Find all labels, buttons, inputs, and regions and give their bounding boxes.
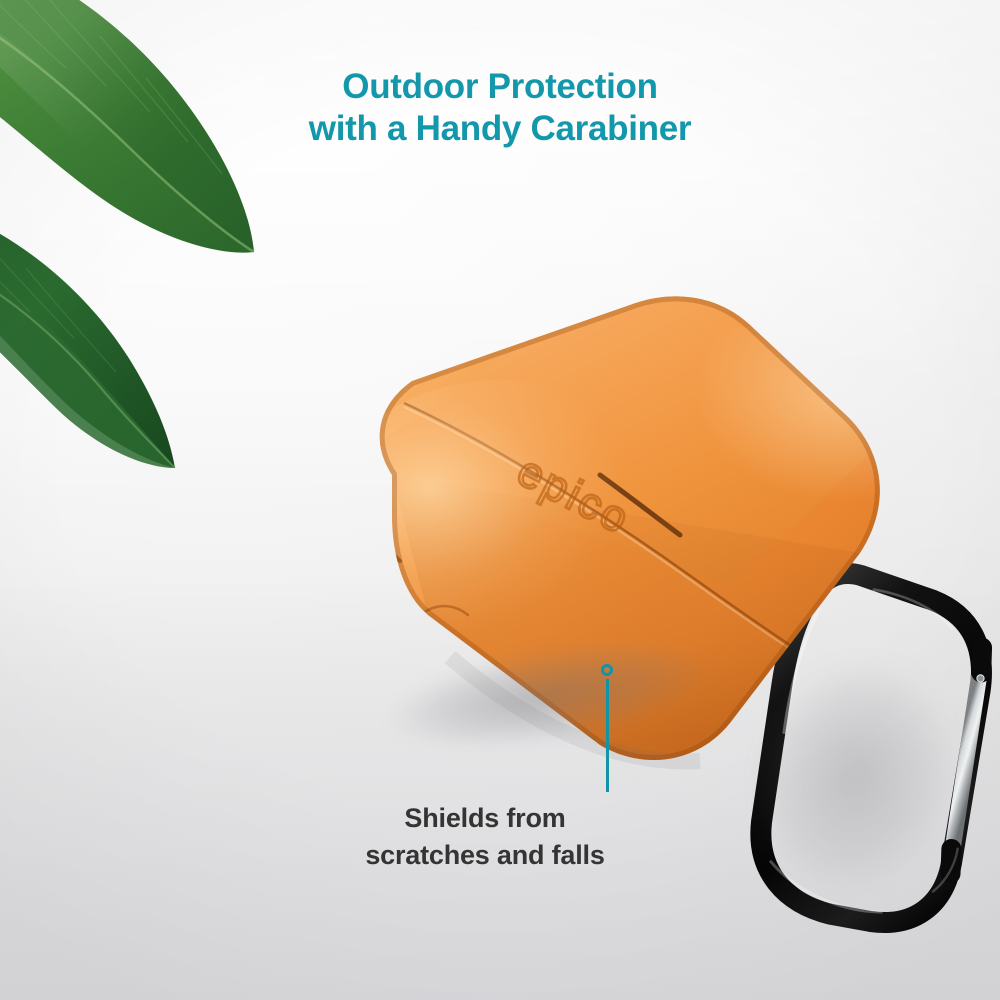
caption-line-1: Shields from <box>404 803 565 833</box>
caption-line-2: scratches and falls <box>245 837 725 874</box>
headline: Outdoor Protection with a Handy Carabine… <box>0 66 1000 150</box>
leaf-lower <box>0 198 175 468</box>
feature-caption: Shields from scratches and falls <box>245 800 725 874</box>
headline-line-1: Outdoor Protection <box>342 67 657 106</box>
callout-line <box>606 679 609 792</box>
headline-line-2: with a Handy Carabiner <box>0 108 1000 150</box>
callout-marker-icon <box>601 664 613 676</box>
product-image-canvas: epico Outdoor Protection with a Handy Ca… <box>0 0 1000 1000</box>
